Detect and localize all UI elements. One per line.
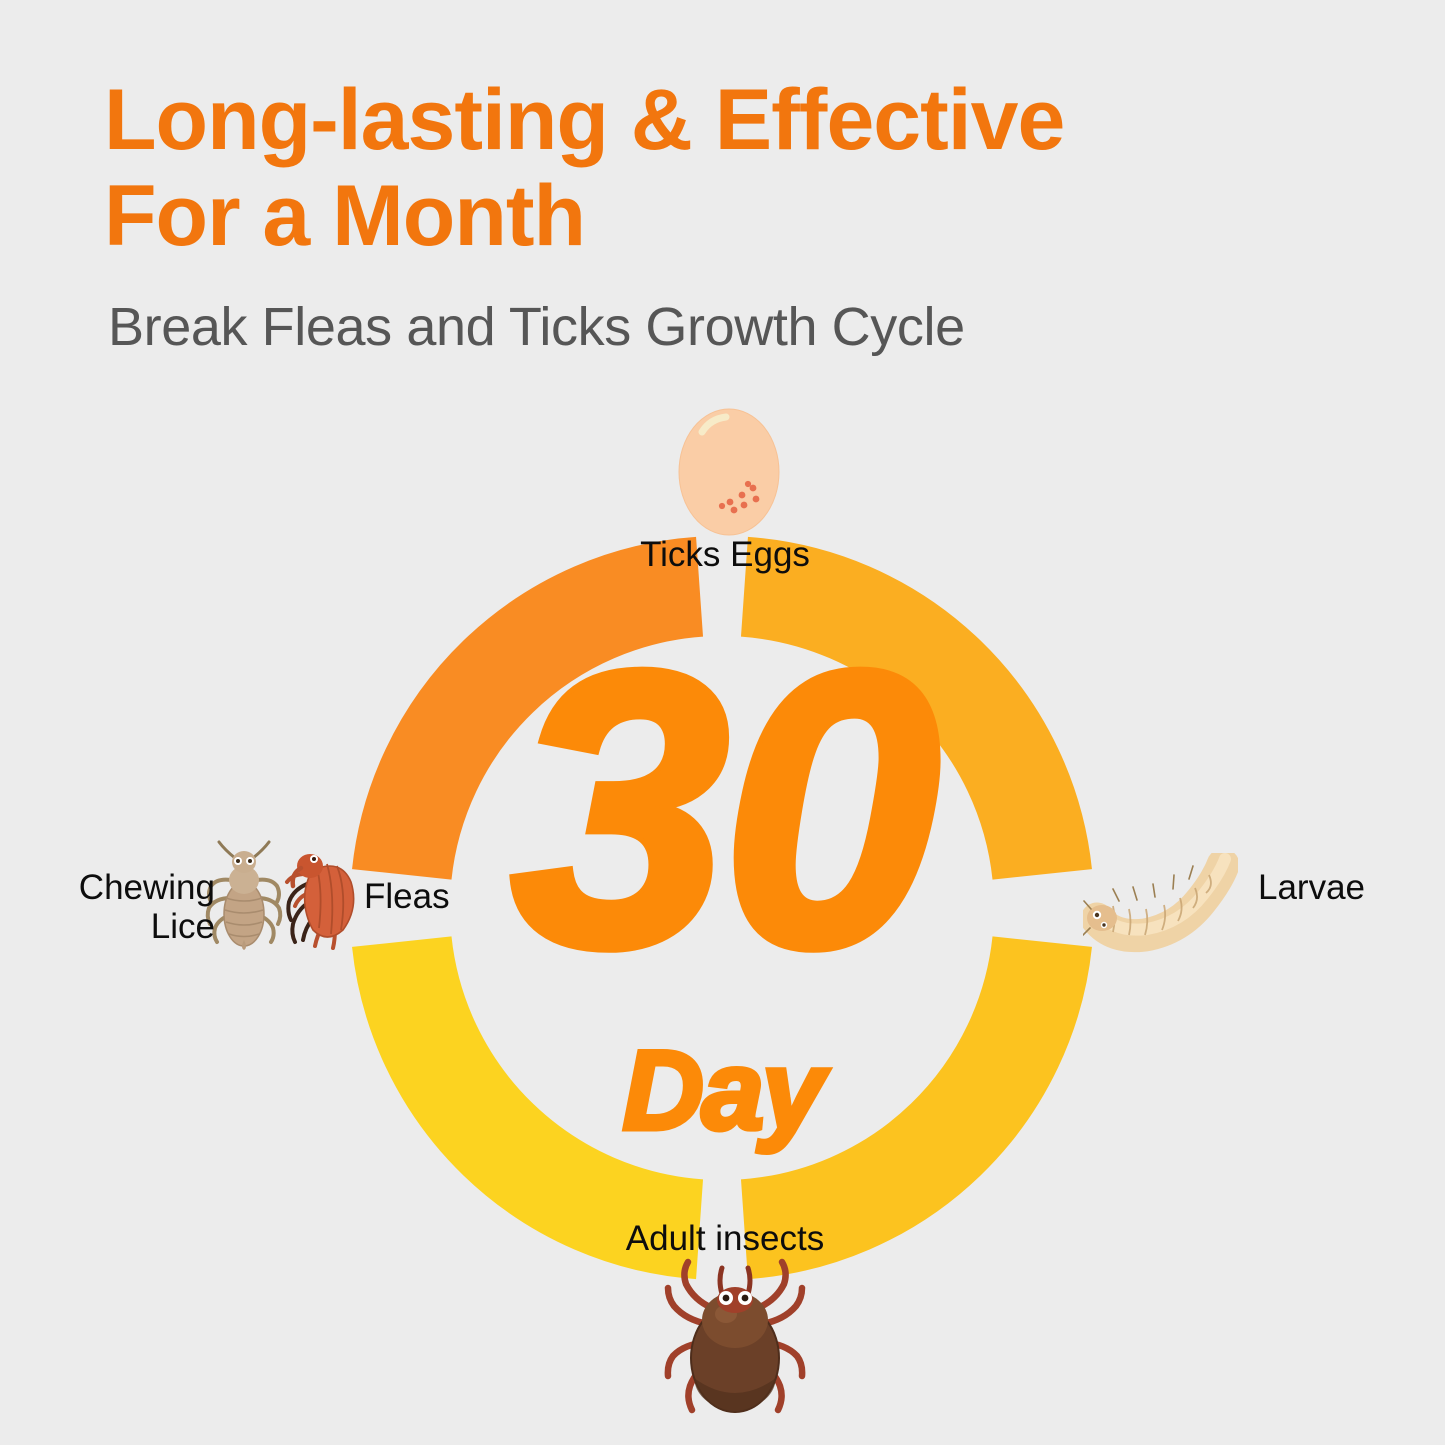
node-label-larvae: Larvae: [1258, 868, 1438, 907]
node-label-chewing-lice: Chewing Lice: [20, 868, 215, 946]
duration-unit: Day: [0, 1035, 1445, 1147]
infographic-canvas: Long-lasting & Effective For a Month Bre…: [0, 0, 1445, 1445]
chewing-louse-icon: [203, 836, 285, 950]
node-label-fleas: Fleas: [364, 877, 544, 916]
flea-icon: [283, 840, 359, 950]
tick-icon: [664, 1258, 806, 1420]
tick-egg-icon: [672, 398, 787, 538]
node-label-ticks-eggs: Ticks Eggs: [570, 535, 880, 574]
node-label-adult-insects: Adult insects: [570, 1219, 880, 1258]
larva-icon: [1083, 853, 1238, 953]
